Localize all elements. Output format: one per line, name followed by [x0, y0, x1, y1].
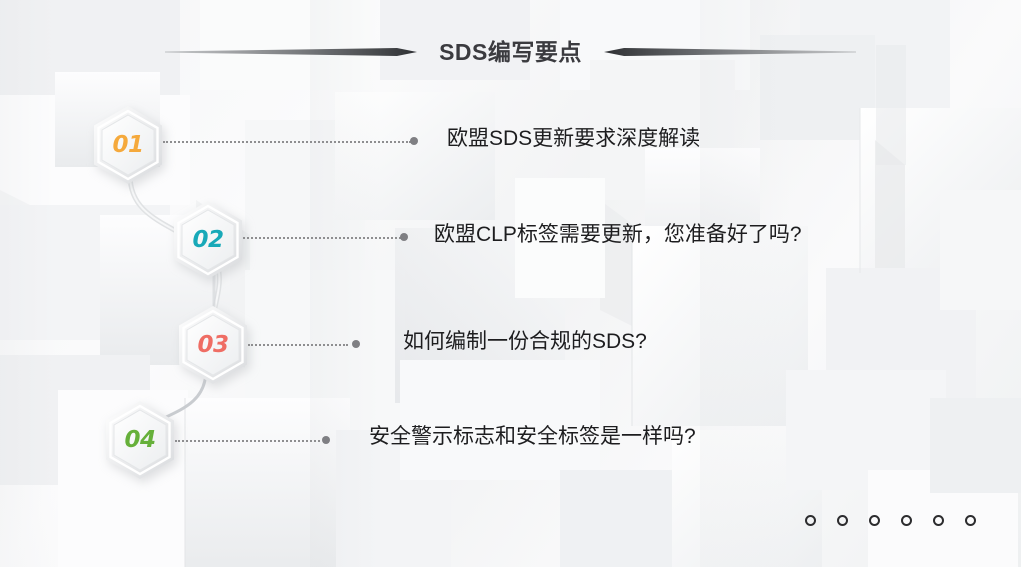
hex-number-label: 04 [104, 400, 176, 480]
pagination-dot[interactable] [901, 515, 912, 526]
pagination-dot[interactable] [933, 515, 944, 526]
item-text-01: 欧盟SDS更新要求深度解读 [447, 128, 700, 149]
hex-badge-03[interactable]: 03 [177, 305, 249, 385]
hex-number-label: 03 [177, 305, 249, 385]
connector-end-dot-04 [322, 436, 330, 444]
page-title: SDS编写要点 [425, 41, 596, 64]
pagination-dot[interactable] [965, 515, 976, 526]
connector-end-dot-03 [352, 340, 360, 348]
hexagon-connector-path [0, 0, 1021, 567]
hex-badge-04[interactable]: 04 [104, 400, 176, 480]
title-right-arrow-icon [596, 44, 856, 60]
hex-number-label: 02 [172, 200, 244, 280]
hex-number-label: 01 [92, 105, 164, 185]
background-blocks-svg [0, 0, 1021, 567]
item-text-03: 如何编制一份合规的SDS? [403, 331, 647, 352]
connector-line-02 [243, 237, 401, 241]
item-text-04: 安全警示标志和安全标签是一样吗? [369, 426, 696, 447]
hex-badge-02[interactable]: 02 [172, 200, 244, 280]
connector-end-dot-02 [400, 233, 408, 241]
connector-line-04 [175, 440, 320, 444]
connector-line-03 [248, 344, 348, 348]
background-pattern [0, 0, 1021, 567]
pagination-dot[interactable] [805, 515, 816, 526]
connector-end-dot-01 [410, 137, 418, 145]
hex-badge-01[interactable]: 01 [92, 105, 164, 185]
connector-line-01 [163, 141, 411, 145]
item-text-02: 欧盟CLP标签需要更新，您准备好了吗? [434, 224, 802, 245]
slide-canvas: SDS编写要点 [0, 0, 1021, 567]
pagination-dot[interactable] [837, 515, 848, 526]
pagination-dots [805, 515, 976, 526]
slide-title-block: SDS编写要点 [0, 32, 1021, 72]
title-left-arrow-icon [165, 44, 425, 60]
pagination-dot[interactable] [869, 515, 880, 526]
